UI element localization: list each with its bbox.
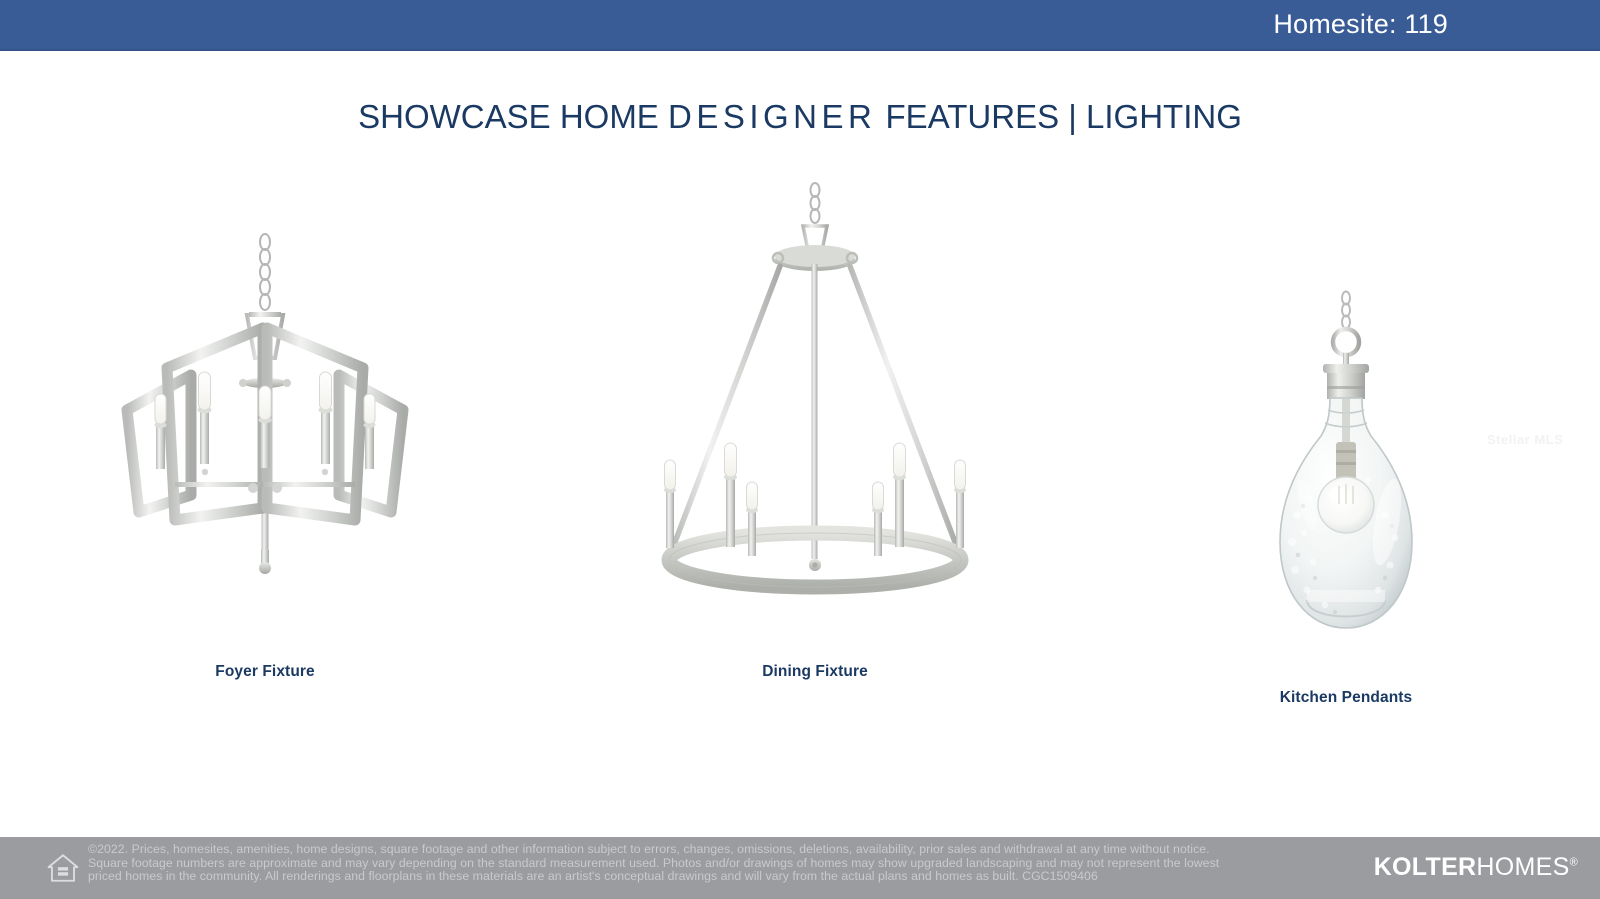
fixture-caption-foyer: Foyer Fixture bbox=[105, 663, 425, 681]
registered-trademark-icon: ® bbox=[1570, 857, 1578, 869]
disclaimer-line-3: priced homes in the community. All rende… bbox=[88, 870, 1338, 884]
dining-fixture-art bbox=[600, 180, 1030, 635]
foyer-fixture-art bbox=[105, 220, 425, 635]
equal-housing-opportunity-icon bbox=[46, 851, 80, 885]
logo-homes-text: HOMES bbox=[1476, 853, 1569, 881]
fixture-caption-dining: Dining Fixture bbox=[600, 663, 1030, 681]
fixture-caption-kitchen: Kitchen Pendants bbox=[1235, 689, 1457, 707]
page-title-part1: SHOWCASE HOME bbox=[358, 98, 668, 135]
fixture-card-kitchen: Kitchen Pendants bbox=[1235, 290, 1457, 707]
fixtures-gallery: Foyer Fixture bbox=[0, 180, 1600, 750]
page-title: SHOWCASE HOME DESIGNER FEATURES | LIGHTI… bbox=[0, 98, 1600, 136]
kitchen-pendant-art bbox=[1235, 290, 1457, 665]
page-title-part3: FEATURES | LIGHTING bbox=[876, 98, 1242, 135]
header-bar: Homesite: 119 bbox=[0, 0, 1600, 51]
footer-bar: ©2022. Prices, homesites, amenities, hom… bbox=[0, 837, 1600, 899]
fixture-card-dining: Dining Fixture bbox=[600, 180, 1030, 681]
footer-disclaimer: ©2022. Prices, homesites, amenities, hom… bbox=[88, 843, 1338, 884]
page-title-designer: DESIGNER bbox=[668, 98, 876, 135]
glass-globe-pendant-icon bbox=[1235, 290, 1457, 660]
geometric-lantern-chandelier-icon bbox=[105, 220, 425, 630]
fixture-card-foyer: Foyer Fixture bbox=[105, 220, 425, 681]
homesite-label: Homesite: 119 bbox=[1273, 9, 1448, 40]
disclaimer-line-2: Square footage numbers are approximate a… bbox=[88, 857, 1338, 871]
kolter-homes-logo: KOLTERHOMES® bbox=[1374, 853, 1578, 882]
disclaimer-line-1: ©2022. Prices, homesites, amenities, hom… bbox=[88, 843, 1338, 857]
stellar-mls-watermark: Stellar MLS bbox=[1487, 432, 1563, 447]
logo-kolter-text: KOLTER bbox=[1374, 853, 1477, 881]
wagon-wheel-chandelier-icon bbox=[600, 180, 1030, 630]
